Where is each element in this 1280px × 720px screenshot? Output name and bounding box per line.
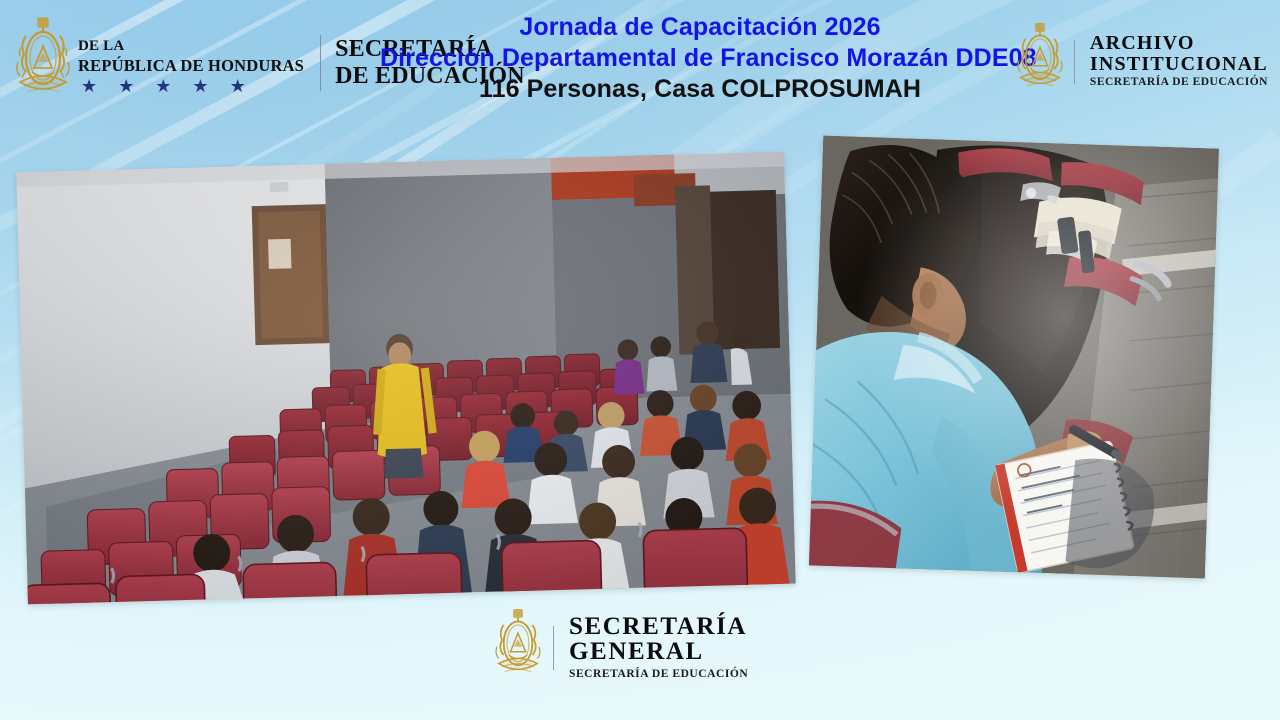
archive-line-3: SECRETARÍA DE EDUCACIÓN (1090, 76, 1268, 90)
republica-line: REPÚBLICA DE HONDURAS (78, 57, 304, 75)
attendee-taking-notes-photo (809, 136, 1219, 579)
star-icon: ★ (192, 77, 208, 95)
government-logo-text: DE LA REPÚBLICA DE HONDURAS ★ ★ ★ ★ ★ (78, 30, 304, 95)
header: DE LA REPÚBLICA DE HONDURAS ★ ★ ★ ★ ★ SE… (0, 0, 1280, 118)
title-line-3: 116 Personas, Casa COLPROSUMAH (380, 74, 1020, 105)
footer-line-3: SECRETARÍA DE EDUCACIÓN (569, 667, 748, 681)
secretaria-general-logo: SECRETARÍA GENERAL SECRETARÍA DE EDUCACI… (492, 608, 748, 687)
archive-line-1: ARCHIVO (1090, 33, 1268, 54)
footer-line-1: SECRETARÍA (569, 614, 748, 640)
title-line-2: Dirección Departamental de Francisco Mor… (380, 43, 1020, 74)
stars-row: ★ ★ ★ ★ ★ (78, 77, 304, 95)
star-icon: ★ (81, 77, 97, 95)
gobierno-line: DE LA (78, 30, 304, 56)
logo-divider (320, 35, 321, 91)
star-icon: ★ (230, 77, 246, 95)
archive-logo-text: ARCHIVO INSTITUCIONAL SECRETARÍA DE EDUC… (1090, 33, 1268, 90)
auditorium-audience-photo (16, 152, 795, 605)
star-icon: ★ (118, 77, 134, 95)
honduras-coat-of-arms-icon (492, 608, 544, 687)
logo-divider (553, 626, 554, 670)
footer-line-2: GENERAL (569, 639, 748, 665)
page-title: Jornada de Capacitación 2026 Dirección D… (380, 12, 1020, 105)
auditorium-audience-image (16, 152, 795, 605)
honduras-coat-of-arms-icon (14, 16, 72, 109)
honduras-coat-of-arms-icon (1015, 22, 1065, 101)
star-icon: ★ (155, 77, 171, 95)
secretaria-general-text: SECRETARÍA GENERAL SECRETARÍA DE EDUCACI… (569, 614, 748, 682)
title-line-1: Jornada de Capacitación 2026 (380, 12, 1020, 43)
archive-logo: ARCHIVO INSTITUCIONAL SECRETARÍA DE EDUC… (1015, 22, 1268, 101)
archive-line-2: INSTITUCIONAL (1090, 54, 1268, 75)
logo-divider (1074, 40, 1075, 84)
attendee-taking-notes-image (809, 136, 1219, 579)
